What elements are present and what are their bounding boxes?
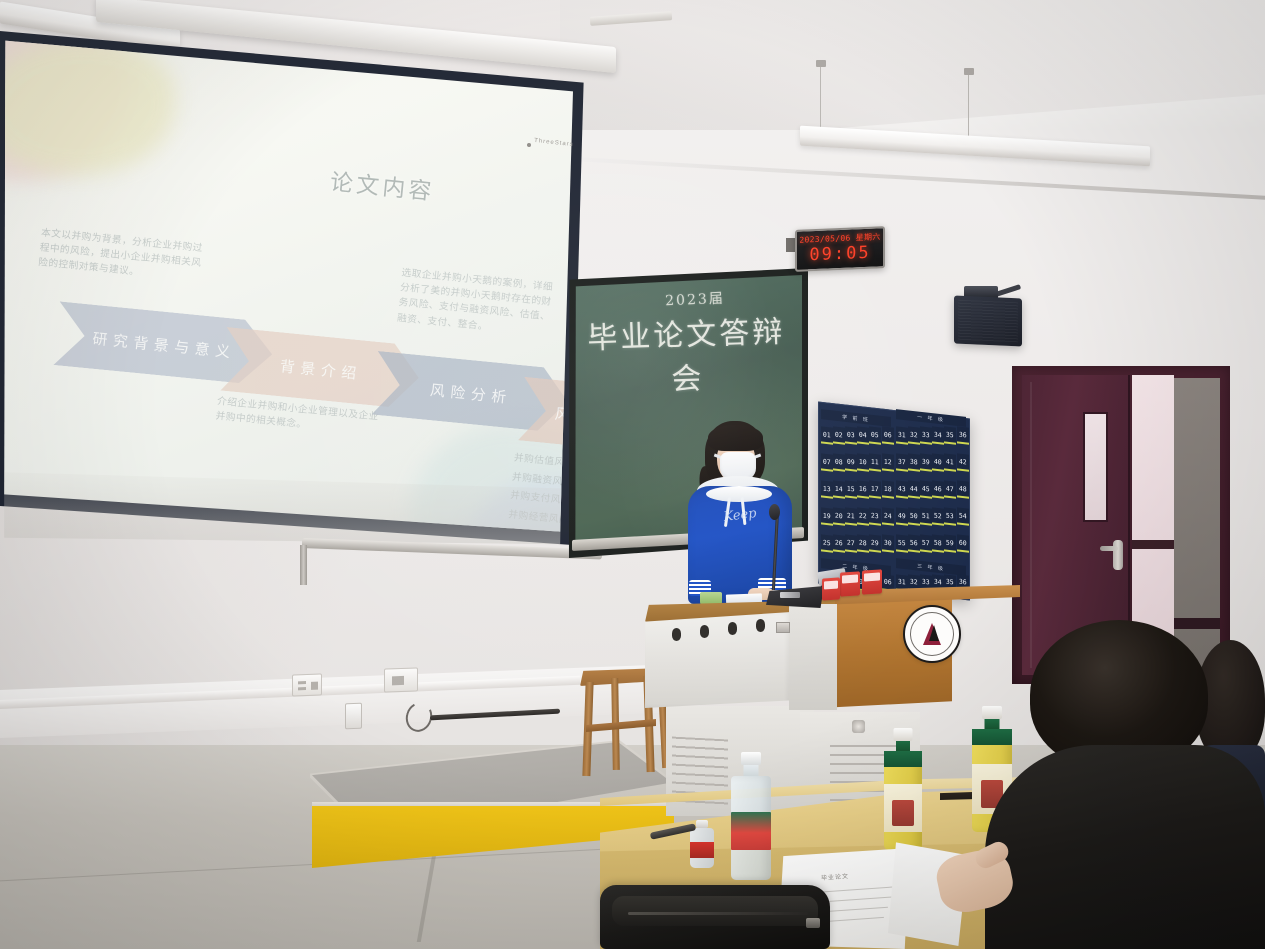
podium-front	[645, 612, 791, 708]
key-board-cell[interactable]: 19	[821, 507, 833, 525]
door-panel-line	[1030, 382, 1032, 668]
red-box-3[interactable]	[822, 577, 840, 600]
classroom-photo: 论文内容 本文以并购为背景，分析企业并购过程中的风险，提出小企业并购相关风险的控…	[0, 0, 1265, 949]
slide-step-2-label: 背景介绍	[279, 354, 363, 384]
key-board-cell[interactable]: 27	[845, 534, 857, 552]
key-board-cell[interactable]: 49	[896, 507, 908, 525]
key-board-cell[interactable]: 07	[821, 453, 833, 471]
podium-slot	[700, 625, 709, 638]
red-box-2[interactable]	[862, 569, 882, 594]
key-board-cell[interactable]: 53	[944, 507, 956, 525]
key-board-cell[interactable]: 16	[857, 480, 869, 498]
tea-bottle-1[interactable]	[884, 728, 922, 850]
key-board-cell[interactable]: 52	[932, 507, 944, 525]
power-outlet-2[interactable]	[384, 667, 418, 692]
door-vision-panel	[1083, 412, 1108, 522]
key-board-cell[interactable]: 13	[821, 480, 833, 498]
key-board-cell[interactable]: 18	[882, 480, 894, 498]
key-board-cell[interactable]: 14	[833, 480, 845, 498]
cable-junction-box	[345, 703, 362, 730]
microphone-label	[780, 592, 800, 598]
podium-slot	[728, 622, 737, 635]
key-board-cell[interactable]: 37	[896, 453, 908, 471]
key-board-cell[interactable]: 29	[869, 534, 881, 552]
door-lever-icon[interactable]	[1100, 546, 1118, 551]
slide-title: 论文内容	[268, 157, 498, 212]
key-board-cell[interactable]: 08	[833, 453, 845, 471]
key-board-cell[interactable]: 48	[957, 480, 969, 498]
key-board-cell[interactable]: 23	[869, 507, 881, 525]
door-handle[interactable]	[1113, 540, 1123, 570]
speaker-grille	[958, 300, 1018, 343]
projection-screen: 论文内容 本文以并购为背景，分析企业并购过程中的风险，提出小企业并购相关风险的控…	[0, 18, 590, 558]
key-board-cell[interactable]: 17	[869, 480, 881, 498]
light-clip	[816, 60, 826, 67]
key-board-cell[interactable]: 55	[896, 534, 908, 552]
key-board-cell[interactable]: 56	[908, 534, 920, 552]
key-board-cell[interactable]: 20	[833, 507, 845, 525]
power-outlet-1[interactable]	[292, 673, 322, 696]
water-bottle[interactable]	[731, 752, 771, 880]
key-board-cell[interactable]: 46	[932, 480, 944, 498]
key-board-cell[interactable]: 47	[944, 480, 956, 498]
key-board-cell[interactable]: 25	[821, 534, 833, 552]
key-board-cell[interactable]: 03	[845, 426, 857, 444]
microphone-head-icon	[769, 504, 780, 520]
bag-buckle-icon[interactable]	[806, 918, 820, 928]
key-board-cell[interactable]: 02	[833, 426, 845, 444]
blackboard-year-text: 2023届	[650, 287, 741, 311]
key-board-cell[interactable]: 12	[882, 453, 894, 471]
key-board-cell[interactable]: 51	[920, 507, 932, 525]
key-board-cell[interactable]: 60	[957, 534, 969, 552]
key-board-cell[interactable]: 35	[944, 426, 956, 444]
hoodie-collar	[706, 486, 772, 502]
podium-slot	[756, 619, 765, 632]
crest-mark-inner-icon	[929, 625, 939, 641]
key-board-cell[interactable]: 22	[857, 507, 869, 525]
key-board-cell[interactable]: 34	[932, 426, 944, 444]
key-board-cell[interactable]: 33	[920, 426, 932, 444]
presenter-fringe	[708, 425, 763, 451]
crest-inner-ring	[910, 612, 954, 656]
key-board-cell[interactable]: 10	[857, 453, 869, 471]
slide-note-3: 选取企业并购小天鹅的案例，详细分析了美的并购小天鹅时存在的财务风险、支付与融资风…	[396, 266, 561, 341]
key-board-cell[interactable]: 42	[957, 453, 969, 471]
key-board-cell[interactable]: 39	[920, 453, 932, 471]
bag-flap	[612, 896, 818, 926]
key-board-cell[interactable]: 09	[845, 453, 857, 471]
key-board-cell[interactable]: 32	[908, 426, 920, 444]
key-board-cell[interactable]: 06	[882, 426, 894, 444]
key-board-cell[interactable]: 24	[882, 507, 894, 525]
led-clock-time: 09:05	[797, 242, 883, 266]
key-board-cell[interactable]: 45	[920, 480, 932, 498]
key-board-cell[interactable]: 36	[957, 426, 969, 444]
key-board-cell[interactable]: 50	[908, 507, 920, 525]
key-board-cell[interactable]: 59	[944, 534, 956, 552]
blackboard-headline-text: 毕业论文答辩会	[577, 306, 798, 402]
key-board-cell[interactable]: 41	[944, 453, 956, 471]
key-board-cell[interactable]: 38	[908, 453, 920, 471]
key-board-cell[interactable]: 54	[957, 507, 969, 525]
examiner-front-body	[985, 745, 1265, 949]
key-board-cell[interactable]: 11	[869, 453, 881, 471]
podium-side	[789, 604, 837, 710]
screen-canvas: 论文内容 本文以并购为背景，分析企业并购过程中的风险，提出小企业并购相关风险的控…	[0, 24, 580, 542]
key-board-cell[interactable]: 43	[896, 480, 908, 498]
slide-step-3-label: 风险分析	[429, 377, 513, 407]
key-board-cell[interactable]: 04	[857, 426, 869, 444]
desk-item-green[interactable]	[700, 592, 722, 604]
key-board-cell[interactable]: 31	[896, 426, 908, 444]
key-board-cell[interactable]: 01	[821, 426, 833, 444]
bag-zipper[interactable]	[628, 912, 808, 915]
slide-step-1-label: 研究背景与意义	[92, 326, 237, 362]
podium-slot	[672, 628, 681, 641]
key-board-cell[interactable]: 30	[882, 534, 894, 552]
key-board-cell[interactable]: 26	[833, 534, 845, 552]
cabinet-lock-icon[interactable]	[852, 720, 865, 733]
key-board-cell[interactable]: 21	[845, 507, 857, 525]
light-clip	[964, 68, 974, 75]
red-box-1[interactable]	[840, 571, 860, 596]
presentation-slide: 论文内容 本文以并购为背景，分析企业并购过程中的风险，提出小企业并购相关风险的控…	[0, 24, 580, 542]
key-board-cell[interactable]: 40	[932, 453, 944, 471]
corridor-skirting-2	[1174, 618, 1220, 629]
key-board-cell[interactable]: 58	[932, 534, 944, 552]
slide-note-1: 本文以并购为背景，分析企业并购过程中的风险，提出小企业并购相关风险的控制对策与建…	[37, 226, 212, 288]
screen-support-pole	[300, 545, 307, 585]
corridor-skirting-1	[1132, 540, 1174, 549]
key-board-cell[interactable]: 57	[920, 534, 932, 552]
key-board-cell[interactable]: 05	[869, 426, 881, 444]
led-clock: 2023/05/06 星期六 09:05	[795, 226, 885, 272]
university-crest	[903, 605, 961, 663]
podium-lock-icon[interactable]	[776, 622, 790, 633]
key-board-cell[interactable]: 15	[845, 480, 857, 498]
key-board-cell[interactable]: 44	[908, 480, 920, 498]
key-board-cell[interactable]: 28	[857, 534, 869, 552]
